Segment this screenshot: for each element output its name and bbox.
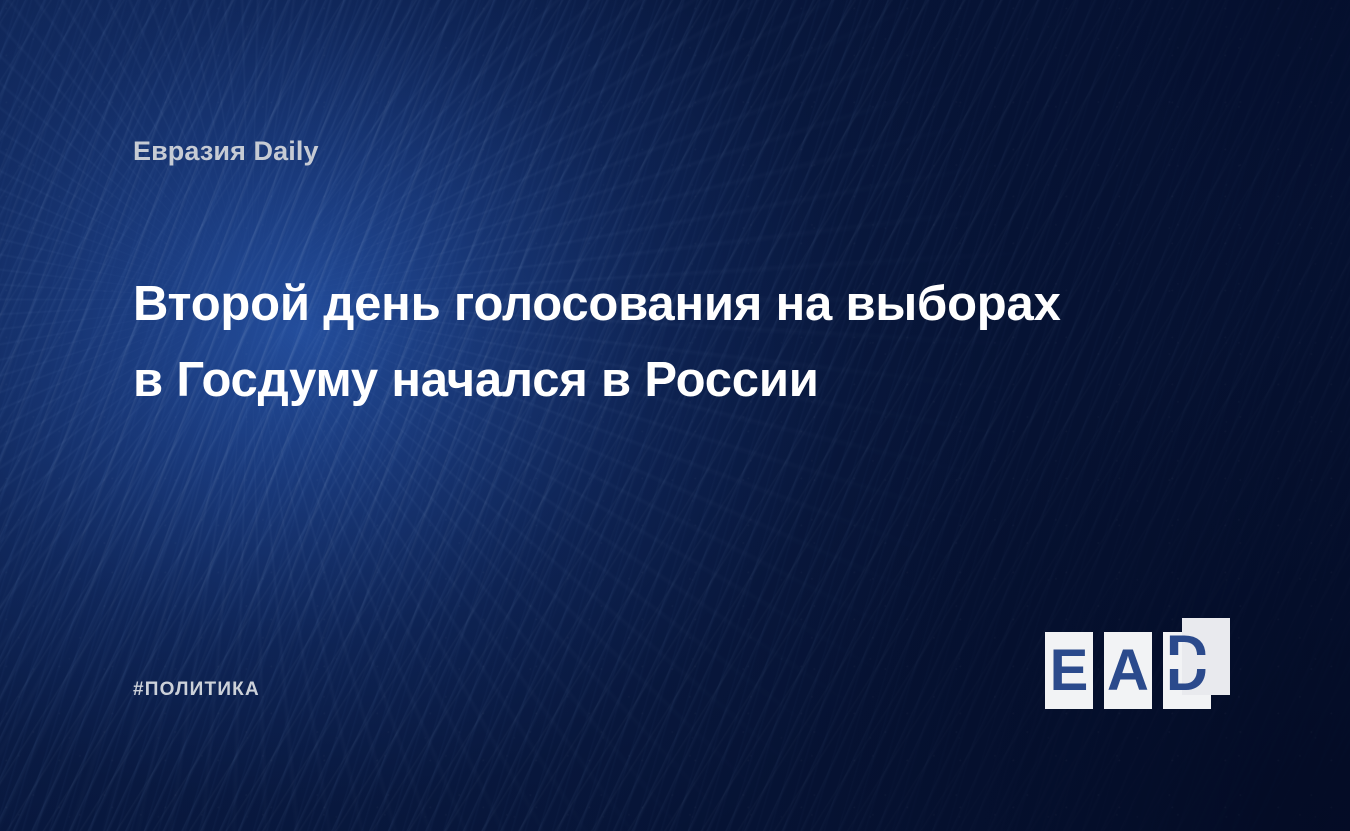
logo-letter-a: A <box>1104 632 1152 709</box>
headline-line-1: Второй день голосования на выборах <box>133 266 1173 342</box>
brand-name: Евразия Daily <box>133 136 319 167</box>
headline: Второй день голосования на выборах в Гос… <box>133 266 1173 418</box>
headline-line-2: в Госдуму начался в России <box>133 342 1173 418</box>
news-share-card: Евразия Daily Второй день голосования на… <box>0 0 1350 831</box>
category-tag: #ПОЛИТИКА <box>133 679 260 701</box>
card-content: Евразия Daily Второй день голосования на… <box>0 0 1350 831</box>
ead-logo: E A D D <box>1045 618 1230 710</box>
logo-letter-e: E <box>1045 632 1093 709</box>
